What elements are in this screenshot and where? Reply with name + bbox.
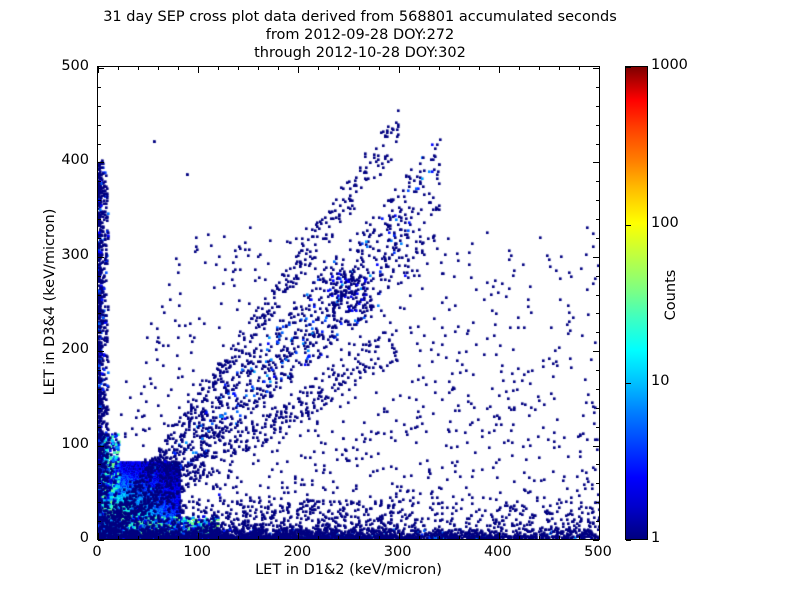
x-minor-tick <box>519 67 520 70</box>
x-minor-tick <box>419 536 420 539</box>
y-minor-tick <box>596 87 599 88</box>
x-tick-100 <box>198 533 199 539</box>
colorbar <box>625 66 648 540</box>
x-minor-tick <box>359 67 360 70</box>
x-minor-tick <box>379 67 380 70</box>
y-minor-tick <box>596 295 599 296</box>
y-minor-tick <box>596 389 599 390</box>
chart-title-line-3: through 2012-10-28 DOY:302 <box>0 44 720 62</box>
y-minor-tick <box>596 502 599 503</box>
x-tick-400 <box>499 533 500 539</box>
y-tick-0 <box>98 540 104 541</box>
x-tick-label-400: 400 <box>468 544 528 560</box>
y-minor-tick <box>98 332 101 333</box>
y-minor-tick <box>596 238 599 239</box>
y-minor-tick <box>596 125 599 126</box>
y-minor-tick <box>596 464 599 465</box>
x-tick-label-100: 100 <box>167 544 227 560</box>
colorbar-tick-label-1000: 1000 <box>651 57 688 73</box>
x-minor-tick <box>439 67 440 70</box>
x-minor-tick <box>579 536 580 539</box>
x-minor-tick <box>138 67 139 70</box>
colorbar-tick-10 <box>626 383 631 384</box>
y-minor-tick <box>596 181 599 182</box>
y-minor-tick <box>596 144 599 145</box>
x-minor-tick <box>258 536 259 539</box>
y-tick-100 <box>593 446 599 447</box>
y-minor-tick <box>98 125 101 126</box>
x-minor-tick <box>559 67 560 70</box>
x-minor-tick <box>178 536 179 539</box>
x-minor-tick <box>218 67 219 70</box>
y-minor-tick <box>98 313 101 314</box>
chart-title-line-1: 31 day SEP cross plot data derived from … <box>0 8 720 26</box>
y-minor-tick <box>98 370 101 371</box>
y-minor-tick <box>596 370 599 371</box>
y-tick-200 <box>98 351 104 352</box>
x-minor-tick <box>338 67 339 70</box>
y-axis-label: LET in D3&4 (keV/micron) <box>42 92 58 512</box>
x-minor-tick <box>118 67 119 70</box>
x-minor-tick <box>238 536 239 539</box>
x-tick-label-300: 300 <box>368 544 428 560</box>
x-minor-tick <box>158 67 159 70</box>
colorbar-label: Counts <box>663 215 679 375</box>
x-tick-200 <box>298 67 299 73</box>
y-minor-tick <box>98 502 101 503</box>
y-minor-tick <box>596 332 599 333</box>
y-minor-tick <box>596 483 599 484</box>
x-minor-tick <box>359 536 360 539</box>
y-minor-tick <box>98 276 101 277</box>
x-tick-100 <box>198 67 199 73</box>
y-tick-200 <box>593 351 599 352</box>
x-minor-tick <box>579 67 580 70</box>
y-tick-300 <box>98 257 104 258</box>
y-minor-tick <box>596 106 599 107</box>
x-tick-label-500: 500 <box>568 544 628 560</box>
y-minor-tick <box>98 144 101 145</box>
y-minor-tick <box>98 483 101 484</box>
scatter-plot-canvas <box>98 67 599 539</box>
y-tick-300 <box>593 257 599 258</box>
x-tick-0 <box>98 533 99 539</box>
x-tick-label-0: 0 <box>67 544 127 560</box>
x-minor-tick <box>379 536 380 539</box>
y-minor-tick <box>98 200 101 201</box>
x-minor-tick <box>459 67 460 70</box>
x-minor-tick <box>278 536 279 539</box>
y-minor-tick <box>98 238 101 239</box>
chart-title-line-2: from 2012-09-28 DOY:272 <box>0 26 720 44</box>
y-minor-tick <box>596 313 599 314</box>
x-minor-tick <box>158 536 159 539</box>
y-minor-tick <box>98 521 101 522</box>
y-minor-tick <box>596 408 599 409</box>
y-minor-tick <box>596 521 599 522</box>
colorbar-tick-100 <box>626 225 631 226</box>
plot-axes <box>97 66 600 540</box>
colorbar-tick-label-10: 10 <box>651 373 669 389</box>
x-minor-tick <box>338 536 339 539</box>
x-minor-tick <box>118 536 119 539</box>
x-minor-tick <box>238 67 239 70</box>
x-minor-tick <box>419 67 420 70</box>
y-minor-tick <box>98 106 101 107</box>
y-minor-tick <box>596 427 599 428</box>
y-tick-label-500: 500 <box>43 58 89 74</box>
x-tick-200 <box>298 533 299 539</box>
x-tick-500 <box>599 67 600 73</box>
x-tick-label-200: 200 <box>267 544 327 560</box>
x-tick-0 <box>98 67 99 73</box>
y-minor-tick <box>98 87 101 88</box>
x-minor-tick <box>178 67 179 70</box>
x-tick-300 <box>399 67 400 73</box>
y-minor-tick <box>98 389 101 390</box>
x-minor-tick <box>559 536 560 539</box>
y-minor-tick <box>596 200 599 201</box>
colorbar-tick-1000 <box>626 67 631 68</box>
x-minor-tick <box>318 67 319 70</box>
x-minor-tick <box>439 536 440 539</box>
y-minor-tick <box>596 219 599 220</box>
y-tick-100 <box>98 446 104 447</box>
x-minor-tick <box>539 536 540 539</box>
y-minor-tick <box>98 464 101 465</box>
y-minor-tick <box>596 276 599 277</box>
x-tick-300 <box>399 533 400 539</box>
y-minor-tick <box>98 219 101 220</box>
chart-title: 31 day SEP cross plot data derived from … <box>0 8 720 62</box>
colorbar-tick-1 <box>626 540 631 541</box>
colorbar-tick-label-1: 1 <box>651 530 660 546</box>
x-minor-tick <box>479 536 480 539</box>
x-minor-tick <box>278 67 279 70</box>
y-minor-tick <box>98 408 101 409</box>
y-tick-400 <box>98 162 104 163</box>
x-tick-500 <box>599 533 600 539</box>
x-minor-tick <box>258 67 259 70</box>
y-minor-tick <box>98 295 101 296</box>
x-minor-tick <box>479 67 480 70</box>
x-minor-tick <box>519 536 520 539</box>
y-tick-0 <box>593 540 599 541</box>
x-axis-label: LET in D1&2 (keV/micron) <box>97 562 600 578</box>
y-minor-tick <box>98 427 101 428</box>
x-minor-tick <box>138 536 139 539</box>
x-minor-tick <box>539 67 540 70</box>
x-minor-tick <box>318 536 319 539</box>
x-tick-400 <box>499 67 500 73</box>
figure: 31 day SEP cross plot data derived from … <box>0 0 800 600</box>
y-minor-tick <box>98 181 101 182</box>
y-tick-400 <box>593 162 599 163</box>
x-minor-tick <box>218 536 219 539</box>
x-minor-tick <box>459 536 460 539</box>
